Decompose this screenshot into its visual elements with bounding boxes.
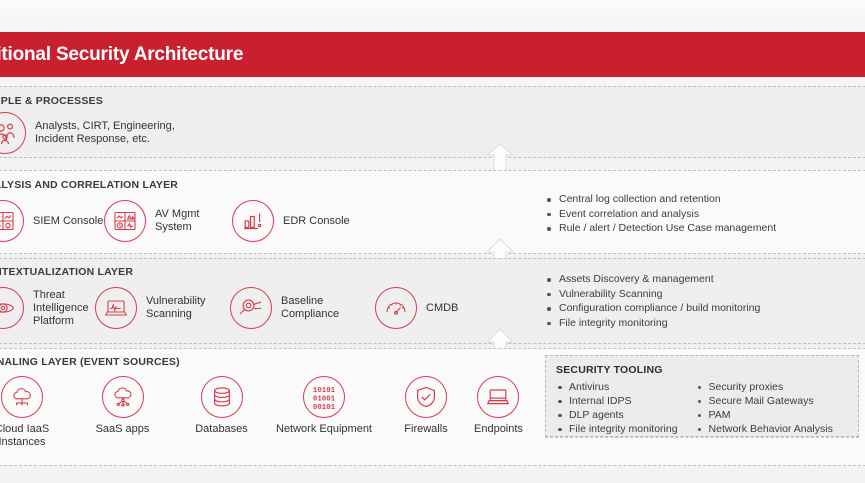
page-title: Traditional Security Architecture xyxy=(0,44,243,66)
laptop-endpoint-icon xyxy=(477,376,519,418)
tooling-item: Internal IDPS xyxy=(556,394,678,408)
tooling-item: Network Behavior Analysis xyxy=(696,422,833,436)
edr-bar-chart-icon xyxy=(232,200,274,242)
node-label-cmdb: CMDB xyxy=(426,302,458,315)
people-group-icon xyxy=(0,112,26,154)
node-label-network-equipment: Network Equipment xyxy=(276,423,372,436)
cloud-iaas-icon xyxy=(1,376,43,418)
analysis-bullet: Event correlation and analysis xyxy=(545,207,776,222)
node-edr-console[interactable]: EDR Console xyxy=(232,200,350,242)
gauge-cmdb-icon xyxy=(375,287,417,329)
security-tooling-title: SECURITY TOOLING xyxy=(556,364,848,376)
tooling-item: Secure Mail Gateways xyxy=(696,394,833,408)
node-label-firewalls: Firewalls xyxy=(404,423,447,436)
shield-check-icon xyxy=(405,376,447,418)
slide-canvas: Traditional Security Architecture PEOPLE… xyxy=(0,0,865,483)
node-label-vuln-scan: Vulnerability Scanning xyxy=(146,295,206,321)
people-node-row: Analysts, CIRT, Engineering, Incident Re… xyxy=(0,112,175,154)
analysis-bullet: Central log collection and retention xyxy=(545,192,776,207)
layer-label-contextualization: CONTEXTUALIZATION LAYER xyxy=(0,266,133,278)
node-threat-intel[interactable]: Threat Intelligence Platform xyxy=(0,287,95,329)
node-firewalls[interactable]: Firewalls xyxy=(378,376,474,436)
security-tooling-column-right: Security proxies Secure Mail Gateways PA… xyxy=(696,380,833,436)
analysis-bullets: Central log collection and retention Eve… xyxy=(545,192,776,236)
siem-dashboard-icon xyxy=(0,200,24,242)
context-bullet: Assets Discovery & management xyxy=(545,272,760,287)
layer-label-people: PEOPLE & PROCESSES xyxy=(0,95,103,107)
node-label-people: Analysts, CIRT, Engineering, Incident Re… xyxy=(35,120,175,146)
analysis-node-row: SIEM Console AV Mgmt System xyxy=(0,200,350,242)
binary-line-2: 01001 xyxy=(313,396,336,404)
node-label-siem: SIEM Console xyxy=(33,215,103,228)
node-label-edr: EDR Console xyxy=(283,215,350,228)
layer-label-analysis: ANALYSIS AND CORRELATION LAYER xyxy=(0,179,178,191)
tooling-item: Security proxies xyxy=(696,380,833,394)
node-saas-apps[interactable]: SaaS apps xyxy=(72,376,173,436)
node-label-saas: SaaS apps xyxy=(96,423,150,436)
node-label-threat-intel: Threat Intelligence Platform xyxy=(33,289,89,328)
context-bullet: Vulnerability Scanning xyxy=(545,287,760,302)
node-label-endpoints: Endpoints xyxy=(474,423,523,436)
tooling-item: Antivirus xyxy=(556,380,678,394)
node-cloud-iaas[interactable]: Cloud IaaS Instances xyxy=(0,376,72,449)
database-icon xyxy=(201,376,243,418)
context-bullets: Assets Discovery & management Vulnerabil… xyxy=(545,272,760,330)
binary-line-1: 10101 xyxy=(313,387,336,395)
node-label-databases: Databases xyxy=(195,423,248,436)
slide-bottom-margin xyxy=(0,466,865,483)
security-tooling-column-left: Antivirus Internal IDPS DLP agents File … xyxy=(556,380,678,436)
node-databases[interactable]: Databases xyxy=(173,376,270,436)
node-siem-console[interactable]: SIEM Console xyxy=(0,200,104,242)
context-node-row: Threat Intelligence Platform Vulnerabili… xyxy=(0,287,458,329)
node-network-equipment[interactable]: 10101 01001 00101 Network Equipment xyxy=(270,376,378,436)
laptop-scan-icon xyxy=(95,287,137,329)
node-people-group[interactable]: Analysts, CIRT, Engineering, Incident Re… xyxy=(0,112,175,154)
signaling-node-row: Cloud IaaS Instances SaaS apps xyxy=(0,376,523,449)
security-tooling-bottom-rule xyxy=(545,437,859,438)
tooling-item: DLP agents xyxy=(556,408,678,422)
slide-top-margin xyxy=(0,0,865,32)
node-label-av-mgmt: AV Mgmt System xyxy=(155,208,199,234)
node-baseline-compliance[interactable]: Baseline Compliance xyxy=(230,287,375,329)
tooling-item: File integrity monitoring xyxy=(556,422,678,436)
context-bullet: File integrity monitoring xyxy=(545,316,760,331)
eye-threat-intel-icon xyxy=(0,287,24,329)
tooling-item: PAM xyxy=(696,408,833,422)
node-cmdb[interactable]: CMDB xyxy=(375,287,458,329)
av-management-icon xyxy=(104,200,146,242)
layer-label-signaling: SIGNALING LAYER (Event Sources) xyxy=(0,356,180,368)
node-endpoints[interactable]: Endpoints xyxy=(474,376,523,436)
node-av-mgmt[interactable]: AV Mgmt System xyxy=(104,200,232,242)
title-bar: Traditional Security Architecture xyxy=(0,32,865,77)
binary-network-icon: 10101 01001 00101 xyxy=(303,376,345,418)
cloud-saas-icon xyxy=(102,376,144,418)
binary-line-3: 00101 xyxy=(313,404,336,412)
node-label-baseline: Baseline Compliance xyxy=(281,295,339,321)
node-label-cloud-iaas: Cloud IaaS Instances xyxy=(0,423,72,449)
node-vuln-scanning[interactable]: Vulnerability Scanning xyxy=(95,287,230,329)
magnifier-baseline-icon xyxy=(230,287,272,329)
security-tooling-box: SECURITY TOOLING Antivirus Internal IDPS… xyxy=(545,355,859,437)
analysis-bullet: Rule / alert / Detection Use Case manage… xyxy=(545,221,776,236)
context-bullet: Configuration compliance / build monitor… xyxy=(545,301,760,316)
